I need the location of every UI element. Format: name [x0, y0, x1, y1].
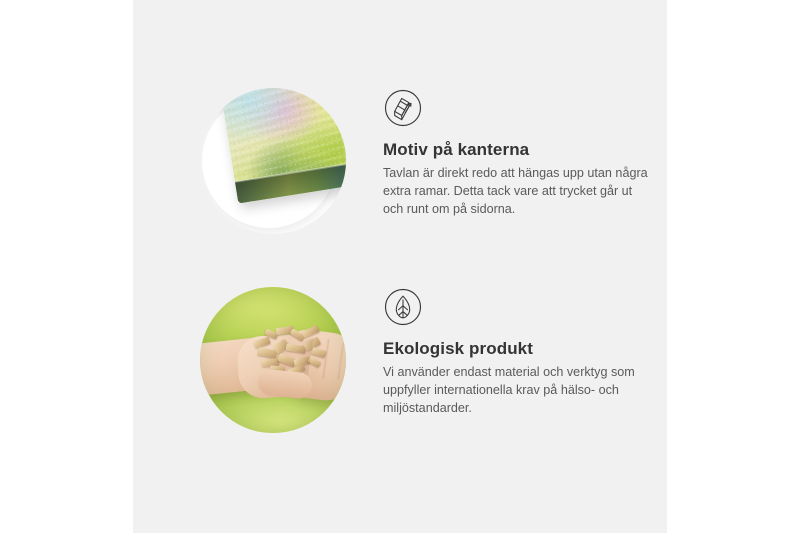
feature-text-edges: Motiv på kanterna Tavlan är direkt redo …: [383, 88, 673, 219]
canvas-block: [219, 88, 346, 204]
content-panel: Motiv på kanterna Tavlan är direkt redo …: [133, 0, 667, 533]
feature-title-edges: Motiv på kanterna: [383, 140, 673, 160]
leaf-icon: [383, 287, 423, 327]
feature-text-eco: Ekologisk produkt Vi använder endast mat…: [383, 287, 673, 418]
photo-inner-shadow: [200, 287, 346, 433]
canvas-print-corner-photo: [200, 88, 346, 234]
feature-title-eco: Ekologisk produkt: [383, 339, 673, 359]
feature-body-eco: Vi använder endast material och verktyg …: [383, 364, 655, 418]
product-info-graphic: Motiv på kanterna Tavlan är direkt redo …: [0, 0, 800, 533]
feature-body-edges: Tavlan är direkt redo att hängas upp uta…: [383, 165, 655, 219]
hands-wood-chips-photo: [200, 287, 346, 433]
canvas-wrapped-edge-icon: [383, 88, 423, 128]
